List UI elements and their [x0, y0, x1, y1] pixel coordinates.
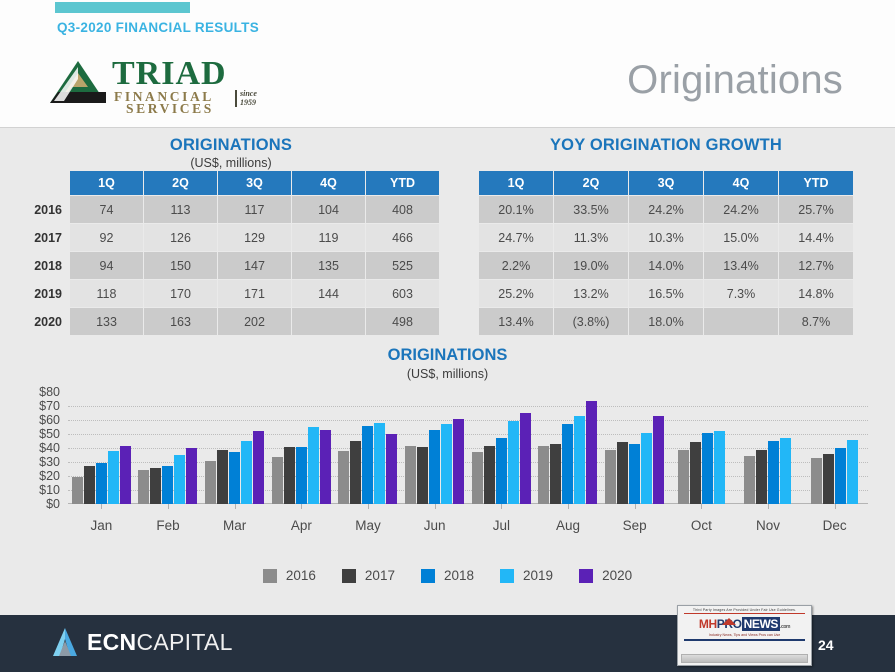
- cell: 13.4%: [704, 252, 778, 279]
- cell: 11.3%: [554, 224, 628, 251]
- cell: 408: [366, 196, 439, 223]
- cell: 94: [70, 252, 143, 279]
- triad-wordmark: TRIAD: [112, 57, 227, 91]
- originations-bar-chart: ORIGINATIONS (US$, millions) $0$10$20$30…: [0, 346, 895, 616]
- bar-2020-feb: [186, 448, 197, 504]
- y-axis-label: $80: [39, 385, 60, 399]
- table-row: 2020 133 163 202 498: [23, 308, 439, 335]
- cell: 104: [292, 196, 365, 223]
- cell: 118: [70, 280, 143, 307]
- x-tick: [501, 504, 502, 509]
- teal-accent-bar: [55, 2, 190, 13]
- x-tick: [635, 504, 636, 509]
- bar-2016-dec: [811, 458, 822, 504]
- cell: 2.2%: [479, 252, 553, 279]
- cell: 74: [70, 196, 143, 223]
- mhpronews-badge: Third Party Images Are Provided Under Fa…: [677, 605, 812, 666]
- bar-2016-sep: [605, 450, 616, 504]
- bar-2017-apr: [284, 447, 295, 504]
- x-tick: [168, 504, 169, 509]
- cell: 16.5%: [629, 280, 703, 307]
- table-row: 2016 74 113 117 104 408: [23, 196, 439, 223]
- bar-2017-aug: [550, 444, 561, 504]
- legend-item-2019[interactable]: 2019: [500, 568, 553, 583]
- cell: 7.3%: [704, 280, 778, 307]
- legend-label-2017: 2017: [365, 568, 395, 583]
- bar-2019-may: [374, 423, 385, 504]
- corner-cell: [23, 171, 69, 195]
- bar-2016-aug: [538, 446, 549, 504]
- bar-2019-dec: [847, 440, 858, 504]
- bar-group: [535, 392, 602, 504]
- row-label: 2018: [23, 252, 69, 279]
- bar-2017-feb: [150, 468, 161, 504]
- bar-2017-jun: [417, 447, 428, 504]
- cell: 25.2%: [479, 280, 553, 307]
- cell: 525: [366, 252, 439, 279]
- bar-2016-feb: [138, 470, 149, 504]
- triad-logo: TRIAD FINANCIAL SERVICES since 1959: [48, 57, 263, 113]
- col-3q: 3Q: [218, 171, 291, 195]
- bar-2018-dec: [835, 448, 846, 504]
- cell: 202: [218, 308, 291, 335]
- cell: 12.7%: [779, 252, 853, 279]
- bar-2017-sep: [617, 442, 628, 504]
- row-label: 2020: [23, 308, 69, 335]
- bar-group: [401, 392, 468, 504]
- x-axis-label-sep: Sep: [623, 518, 647, 533]
- cell: 147: [218, 252, 291, 279]
- bar-2019-sep: [641, 433, 652, 504]
- chart-legend: 20162017201820192020: [0, 568, 895, 583]
- legend-swatch-2020: [579, 569, 593, 583]
- cell: 171: [218, 280, 291, 307]
- originations-table-block: ORIGINATIONS (US$, millions) 1Q 2Q 3Q 4Q…: [22, 136, 440, 336]
- cell: 117: [218, 196, 291, 223]
- bar-group: [735, 392, 802, 504]
- ecn-brand-bold: ECN: [87, 629, 136, 655]
- x-axis-label-aug: Aug: [556, 518, 580, 533]
- bar-2016-nov: [744, 456, 755, 504]
- fair-use-notice: Third Party Images Are Provided Under Fa…: [678, 606, 811, 612]
- bar-2018-feb: [162, 466, 173, 505]
- ecn-logo-icon: [52, 627, 78, 657]
- bar-2017-dec: [823, 454, 834, 504]
- bar-2018-apr: [296, 447, 307, 504]
- chart-plot-area: $0$10$20$30$40$50$60$70$80JanFebMarAprMa…: [68, 392, 868, 504]
- cell: 92: [70, 224, 143, 251]
- slide: Q3-2020 FINANCIAL RESULTS TRIAD FINANCIA…: [0, 0, 895, 672]
- y-axis-label: $50: [39, 427, 60, 441]
- legend-swatch-2018: [421, 569, 435, 583]
- table-row: 2019 118 170 171 144 603: [23, 280, 439, 307]
- cell: 466: [366, 224, 439, 251]
- chart-bars-layer: $0$10$20$30$40$50$60$70$80JanFebMarAprMa…: [68, 392, 868, 504]
- legend-swatch-2016: [263, 569, 277, 583]
- slide-body: ORIGINATIONS (US$, millions) 1Q 2Q 3Q 4Q…: [0, 127, 895, 616]
- slide-header: Q3-2020 FINANCIAL RESULTS TRIAD FINANCIA…: [0, 0, 895, 127]
- x-axis-label-oct: Oct: [691, 518, 712, 533]
- bar-2019-oct: [714, 431, 725, 504]
- bar-2019-aug: [574, 416, 585, 504]
- chart-subtitle: (US$, millions): [0, 367, 895, 381]
- table-row: 2018 94 150 147 135 525: [23, 252, 439, 279]
- bar-2020-may: [386, 434, 397, 504]
- cell: 14.8%: [779, 280, 853, 307]
- bar-2020-sep: [653, 416, 664, 504]
- bar-2017-mar: [217, 450, 228, 504]
- col-ytd: YTD: [779, 171, 853, 195]
- bar-group: [468, 392, 535, 504]
- col-4q: 4Q: [704, 171, 778, 195]
- cell: 163: [144, 308, 217, 335]
- col-1q: 1Q: [479, 171, 553, 195]
- cell: 170: [144, 280, 217, 307]
- logo-mh: MH: [699, 617, 717, 631]
- bar-2019-apr: [308, 427, 319, 504]
- cell-empty: [704, 308, 778, 335]
- col-2q: 2Q: [554, 171, 628, 195]
- x-tick: [435, 504, 436, 509]
- col-3q: 3Q: [629, 171, 703, 195]
- legend-label-2020: 2020: [602, 568, 632, 583]
- row-label: 2017: [23, 224, 69, 251]
- bar-group: [68, 392, 135, 504]
- badge-tagline: Industry News, Tips and Views Pros can U…: [678, 633, 811, 637]
- badge-rule-bottom: [684, 639, 805, 641]
- badge-rule-top: [684, 613, 805, 615]
- originations-table-subtitle: (US$, millions): [22, 156, 440, 170]
- legend-swatch-2019: [500, 569, 514, 583]
- cell: 126: [144, 224, 217, 251]
- x-tick: [368, 504, 369, 509]
- bar-group: [335, 392, 402, 504]
- bar-group: [268, 392, 335, 504]
- x-axis-label-nov: Nov: [756, 518, 780, 533]
- bar-2018-nov: [768, 441, 779, 504]
- bar-2018-aug: [562, 424, 573, 504]
- table-row: 20.1% 33.5% 24.2% 24.2% 25.7%: [479, 196, 853, 223]
- bar-2017-may: [350, 441, 361, 504]
- cell: 129: [218, 224, 291, 251]
- table-header-row: 1Q 2Q 3Q 4Q YTD: [479, 171, 853, 195]
- bar-2019-mar: [241, 441, 252, 504]
- badge-base: [681, 654, 808, 663]
- y-axis-label: $60: [39, 413, 60, 427]
- legend-swatch-2017: [342, 569, 356, 583]
- legend-item-2018[interactable]: 2018: [421, 568, 474, 583]
- page-title: Originations: [627, 58, 843, 103]
- bar-group: [201, 392, 268, 504]
- bar-2016-jul: [472, 452, 483, 504]
- cell: 498: [366, 308, 439, 335]
- bar-2016-apr: [272, 457, 283, 504]
- y-axis-label: $70: [39, 399, 60, 413]
- kicker-text: Q3-2020 FINANCIAL RESULTS: [57, 20, 259, 35]
- row-label: 2019: [23, 280, 69, 307]
- y-axis-label: $0: [46, 497, 60, 511]
- bar-2018-sep: [629, 444, 640, 504]
- cell: 14.0%: [629, 252, 703, 279]
- x-axis-label-may: May: [355, 518, 381, 533]
- cell: 603: [366, 280, 439, 307]
- bar-2017-jan: [84, 466, 95, 504]
- bar-2019-nov: [780, 438, 791, 504]
- bar-2017-oct: [690, 442, 701, 504]
- legend-label-2016: 2016: [286, 568, 316, 583]
- cell: 10.3%: [629, 224, 703, 251]
- triad-sub-services: SERVICES: [126, 101, 214, 117]
- col-4q: 4Q: [292, 171, 365, 195]
- legend-item-2017[interactable]: 2017: [342, 568, 395, 583]
- col-1q: 1Q: [70, 171, 143, 195]
- bar-2018-jan: [96, 463, 107, 504]
- legend-item-2016[interactable]: 2016: [263, 568, 316, 583]
- y-axis-label: $20: [39, 469, 60, 483]
- cell-empty: [292, 308, 365, 335]
- logo-com: .com: [780, 624, 790, 630]
- cell: 13.2%: [554, 280, 628, 307]
- legend-item-2020[interactable]: 2020: [579, 568, 632, 583]
- col-ytd: YTD: [366, 171, 439, 195]
- bar-2019-feb: [174, 455, 185, 504]
- y-axis-label: $40: [39, 441, 60, 455]
- bar-group: [801, 392, 868, 504]
- x-axis-label-jun: Jun: [424, 518, 446, 533]
- yoy-growth-table: 1Q 2Q 3Q 4Q YTD 20.1% 33.5% 24.2% 24.2% …: [478, 170, 854, 336]
- bar-2018-may: [362, 426, 373, 504]
- cell: 20.1%: [479, 196, 553, 223]
- ecn-wordmark: ECNCAPITAL: [87, 629, 233, 656]
- bar-2020-mar: [253, 431, 264, 504]
- bar-group: [135, 392, 202, 504]
- triad-since: since 1959: [235, 90, 257, 107]
- y-axis-label: $30: [39, 455, 60, 469]
- legend-label-2019: 2019: [523, 568, 553, 583]
- table-row: 24.7% 11.3% 10.3% 15.0% 14.4%: [479, 224, 853, 251]
- ecn-capital-logo: ECNCAPITAL: [52, 627, 233, 657]
- page-number: 24: [818, 637, 834, 653]
- cell: 144: [292, 280, 365, 307]
- x-tick: [235, 504, 236, 509]
- cell: 133: [70, 308, 143, 335]
- bar-2018-mar: [229, 452, 240, 505]
- cell: 24.2%: [704, 196, 778, 223]
- table-row: 2017 92 126 129 119 466: [23, 224, 439, 251]
- table-row: 25.2% 13.2% 16.5% 7.3% 14.8%: [479, 280, 853, 307]
- x-tick: [101, 504, 102, 509]
- x-tick: [568, 504, 569, 509]
- x-axis-label-jul: Jul: [493, 518, 510, 533]
- table-row: 2.2% 19.0% 14.0% 13.4% 12.7%: [479, 252, 853, 279]
- cell: 113: [144, 196, 217, 223]
- bar-2019-jan: [108, 451, 119, 504]
- x-tick: [768, 504, 769, 509]
- x-axis-label-feb: Feb: [156, 518, 179, 533]
- bar-2017-nov: [756, 450, 767, 504]
- chart-title: ORIGINATIONS: [0, 346, 895, 365]
- cell: 119: [292, 224, 365, 251]
- cell: 33.5%: [554, 196, 628, 223]
- since-year: 1959: [240, 99, 257, 108]
- cell: 24.7%: [479, 224, 553, 251]
- bar-2016-mar: [205, 461, 216, 504]
- cell: 19.0%: [554, 252, 628, 279]
- table-header-row: 1Q 2Q 3Q 4Q YTD: [23, 171, 439, 195]
- cell: (3.8%): [554, 308, 628, 335]
- bar-2019-jul: [508, 421, 519, 504]
- bar-2018-jun: [429, 430, 440, 504]
- col-2q: 2Q: [144, 171, 217, 195]
- x-tick: [835, 504, 836, 509]
- bar-2020-jun: [453, 419, 464, 504]
- x-axis-label-apr: Apr: [291, 518, 312, 533]
- cell: 14.4%: [779, 224, 853, 251]
- x-tick: [701, 504, 702, 509]
- bar-2020-apr: [320, 430, 331, 504]
- x-axis-label-dec: Dec: [823, 518, 847, 533]
- triad-logo-icon: [48, 59, 110, 105]
- cell: 8.7%: [779, 308, 853, 335]
- yoy-growth-table-block: YOY ORIGINATION GROWTH 1Q 2Q 3Q 4Q YTD 2…: [478, 136, 854, 336]
- bar-2016-jun: [405, 446, 416, 504]
- bar-2016-jan: [72, 477, 83, 504]
- cell: 24.2%: [629, 196, 703, 223]
- house-roof-icon: [722, 618, 736, 625]
- cell: 18.0%: [629, 308, 703, 335]
- bar-2016-may: [338, 451, 349, 504]
- ecn-brand-light: CAPITAL: [136, 629, 232, 655]
- bar-group: [601, 392, 668, 504]
- bar-2020-jul: [520, 413, 531, 504]
- x-axis-label-mar: Mar: [223, 518, 246, 533]
- bar-2019-jun: [441, 424, 452, 505]
- logo-news: NEWS: [742, 617, 780, 631]
- mhpronews-wordmark: MHPRONEWS.com: [678, 617, 811, 631]
- cell: 135: [292, 252, 365, 279]
- bar-2017-jul: [484, 446, 495, 504]
- originations-table: 1Q 2Q 3Q 4Q YTD 2016 74 113 117 104 408: [22, 170, 440, 336]
- table-row: 13.4% (3.8%) 18.0% 8.7%: [479, 308, 853, 335]
- bar-2018-oct: [702, 433, 713, 504]
- y-axis-label: $10: [39, 483, 60, 497]
- cell: 25.7%: [779, 196, 853, 223]
- row-label: 2016: [23, 196, 69, 223]
- bar-2020-aug: [586, 401, 597, 504]
- cell: 13.4%: [479, 308, 553, 335]
- x-axis-label-jan: Jan: [90, 518, 112, 533]
- bar-2018-jul: [496, 438, 507, 504]
- cell: 15.0%: [704, 224, 778, 251]
- x-tick: [301, 504, 302, 509]
- cell: 150: [144, 252, 217, 279]
- legend-label-2018: 2018: [444, 568, 474, 583]
- bar-2020-jan: [120, 446, 131, 504]
- bar-2016-oct: [678, 450, 689, 504]
- yoy-growth-table-title: YOY ORIGINATION GROWTH: [478, 136, 854, 155]
- originations-table-title: ORIGINATIONS: [22, 136, 440, 155]
- bar-group: [668, 392, 735, 504]
